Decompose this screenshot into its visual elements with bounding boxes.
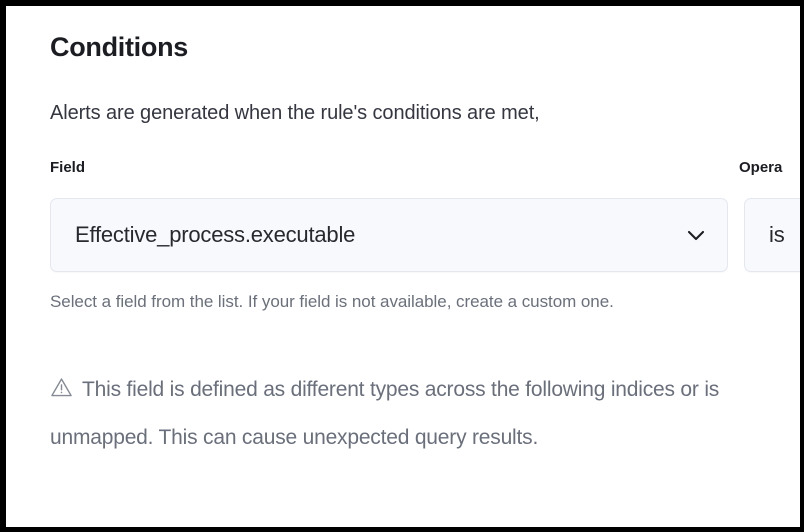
field-type-warning-text: This field is defined as different types…	[50, 378, 719, 449]
field-label: Field	[50, 159, 85, 176]
conditions-panel: Conditions Alerts are generated when the…	[6, 6, 800, 527]
operator-select-value: is	[769, 222, 785, 248]
operator-select[interactable]: is	[744, 198, 800, 272]
chevron-down-icon[interactable]	[683, 222, 709, 248]
field-select-value: Effective_process.executable	[75, 222, 355, 248]
warning-triangle-icon	[50, 376, 73, 399]
operator-label: Opera	[739, 159, 782, 176]
screenshot-frame: Conditions Alerts are generated when the…	[0, 0, 804, 532]
field-select[interactable]: Effective_process.executable	[50, 198, 728, 272]
panel-description: Alerts are generated when the rule's con…	[50, 102, 540, 125]
page-title: Conditions	[50, 32, 188, 63]
field-helper-text: Select a field from the list. If your fi…	[50, 286, 710, 317]
field-type-warning: This field is defined as different types…	[50, 366, 730, 462]
